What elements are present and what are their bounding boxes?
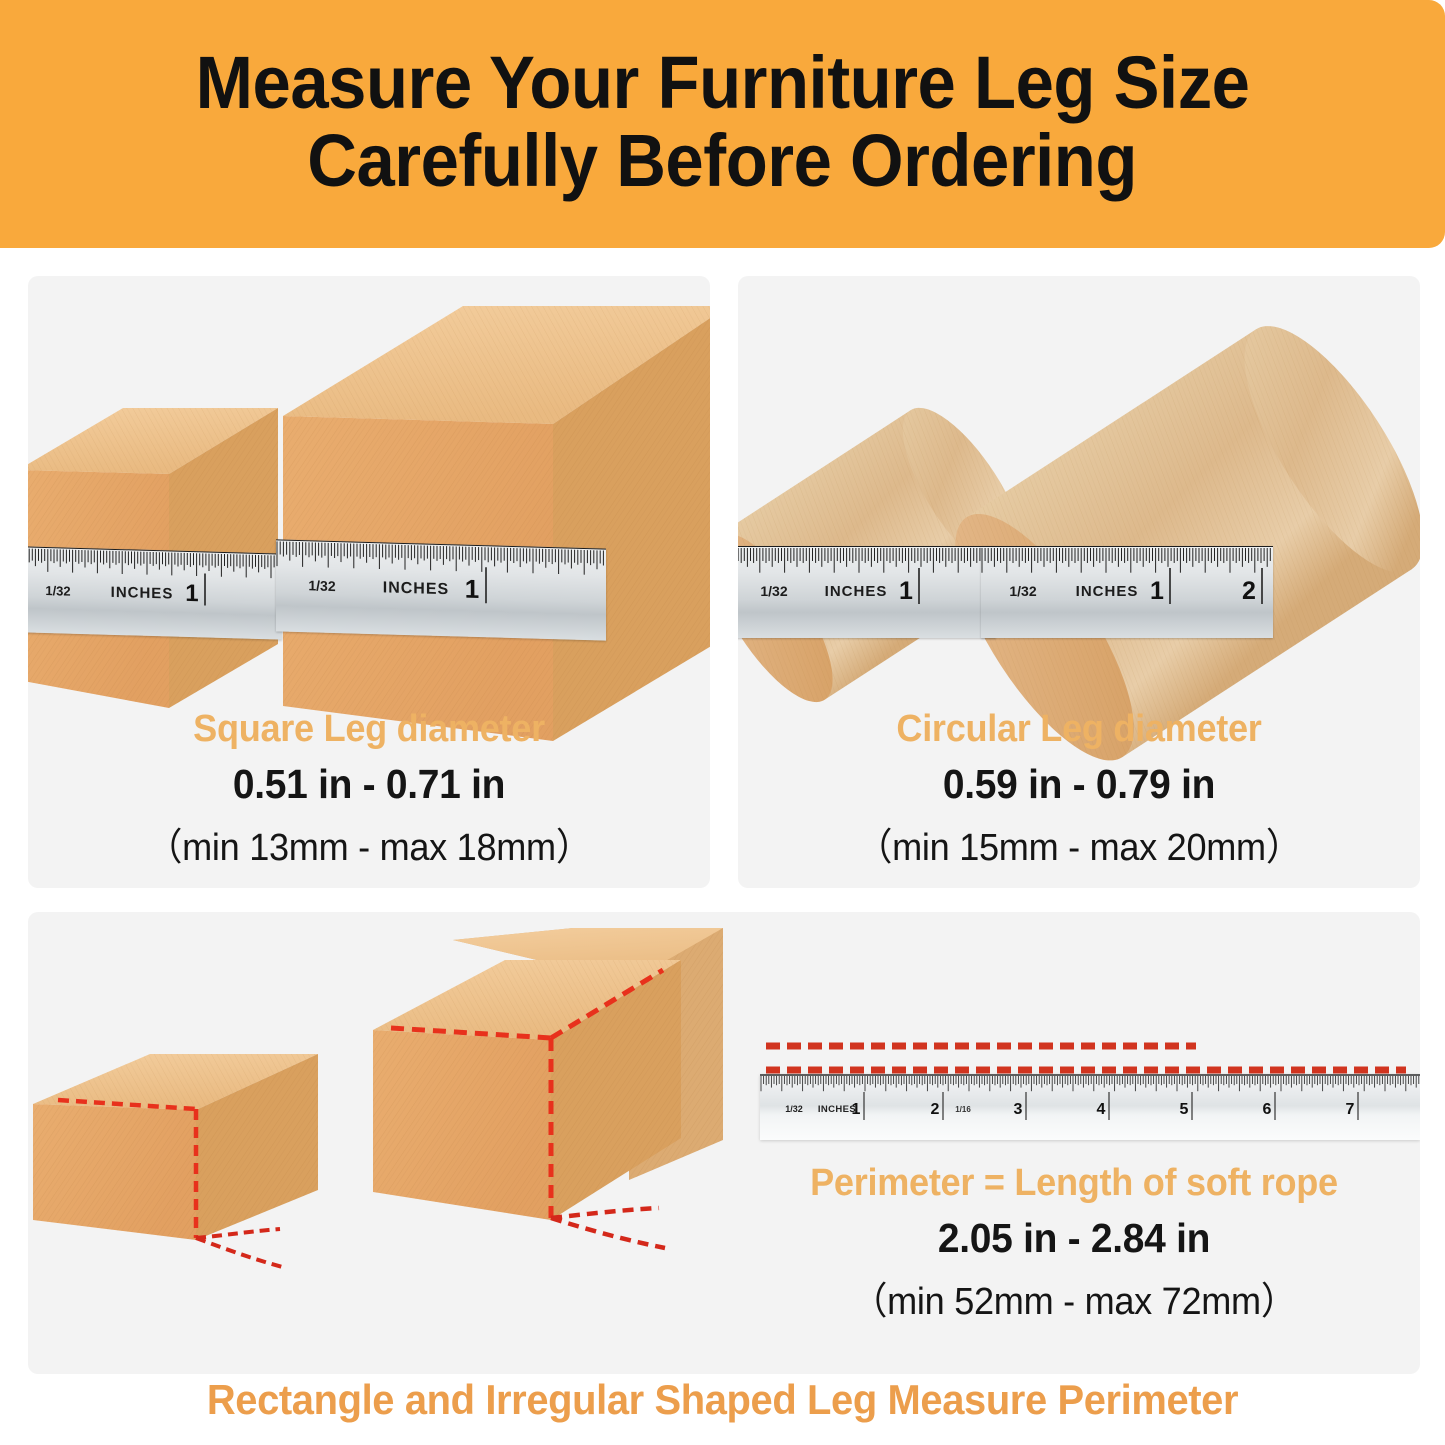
ruler-square-large: 1/32 INCHES 1: [276, 539, 606, 640]
square-value: 0.51 in - 0.71 in: [45, 761, 693, 808]
banner-title-line-1: Measure Your Furniture Leg Size: [196, 44, 1250, 122]
panel-circular-leg: 1/32 INCHES 1 1/32 INCHES 1 2 Circular L…: [738, 276, 1420, 888]
svg-text:1/32: 1/32: [785, 1104, 803, 1114]
svg-text:1/32: 1/32: [45, 583, 70, 599]
perimeter-value: 2.05 in - 2.84 in: [745, 1215, 1402, 1262]
panel-square-leg: 1/32 INCHES 1 1/32 INCHES 1 Square Leg d…: [28, 276, 710, 888]
svg-text:INCHES: INCHES: [383, 579, 449, 598]
circular-caption: Circular Leg diameter 0.59 in - 0.79 in …: [738, 708, 1420, 871]
perimeter-block-large: [363, 922, 763, 1242]
svg-text:3: 3: [1014, 1101, 1023, 1118]
svg-text:INCHES: INCHES: [818, 1104, 856, 1115]
svg-text:2: 2: [931, 1101, 940, 1118]
svg-text:1: 1: [185, 580, 198, 607]
svg-text:4: 4: [1097, 1101, 1106, 1118]
svg-text:1: 1: [852, 1101, 861, 1118]
svg-text:1/32: 1/32: [1009, 583, 1036, 599]
ruler-square-small: 1/32 INCHES 1: [28, 546, 282, 639]
svg-text:1/16: 1/16: [955, 1105, 971, 1114]
ruler-circular-small: 1/32 INCHES 1: [738, 546, 996, 638]
square-caption: Square Leg diameter 0.51 in - 0.71 in （m…: [28, 708, 710, 871]
svg-text:7: 7: [1346, 1101, 1355, 1118]
svg-text:INCHES: INCHES: [111, 584, 174, 603]
circular-leg-large: [978, 296, 1420, 766]
svg-text:1: 1: [1150, 577, 1164, 605]
circular-value: 0.59 in - 0.79 in: [755, 761, 1403, 808]
circular-title: Circular Leg diameter: [755, 708, 1403, 751]
perimeter-block-small: [28, 992, 358, 1242]
svg-text:1/32: 1/32: [308, 577, 335, 594]
svg-text:2: 2: [1242, 577, 1256, 605]
ruler-circular-large: 1/32 INCHES 1 2: [981, 546, 1273, 638]
svg-text:1: 1: [465, 574, 479, 604]
circular-sub: （min 15mm - max 20mm）: [755, 816, 1403, 871]
perimeter-caption: Perimeter = Length of soft rope 2.05 in …: [728, 1162, 1420, 1325]
svg-text:1: 1: [899, 577, 913, 605]
panel-perimeter: 1/32 INCHES 1 2 1/16 3 4 5 6 7 Perimeter: [28, 912, 1420, 1374]
banner-title-line-2: Carefully Before Ordering: [308, 122, 1138, 200]
square-title: Square Leg diameter: [45, 708, 693, 751]
svg-text:1/32: 1/32: [760, 583, 787, 599]
perimeter-sub: （min 52mm - max 72mm）: [745, 1270, 1402, 1325]
infographic-page: Measure Your Furniture Leg Size Carefull…: [0, 0, 1445, 1445]
perimeter-title: Perimeter = Length of soft rope: [745, 1162, 1402, 1205]
square-sub: （min 13mm - max 18mm）: [45, 816, 693, 871]
svg-text:6: 6: [1263, 1101, 1272, 1118]
ruler-perimeter-long: 1/32 INCHES 1 2 1/16 3 4 5 6 7: [760, 1074, 1420, 1140]
svg-text:5: 5: [1180, 1101, 1189, 1118]
bottom-caption: Rectangle and Irregular Shaped Leg Measu…: [36, 1376, 1409, 1424]
svg-text:INCHES: INCHES: [825, 583, 888, 600]
header-banner: Measure Your Furniture Leg Size Carefull…: [0, 0, 1445, 248]
svg-text:INCHES: INCHES: [1076, 583, 1139, 600]
